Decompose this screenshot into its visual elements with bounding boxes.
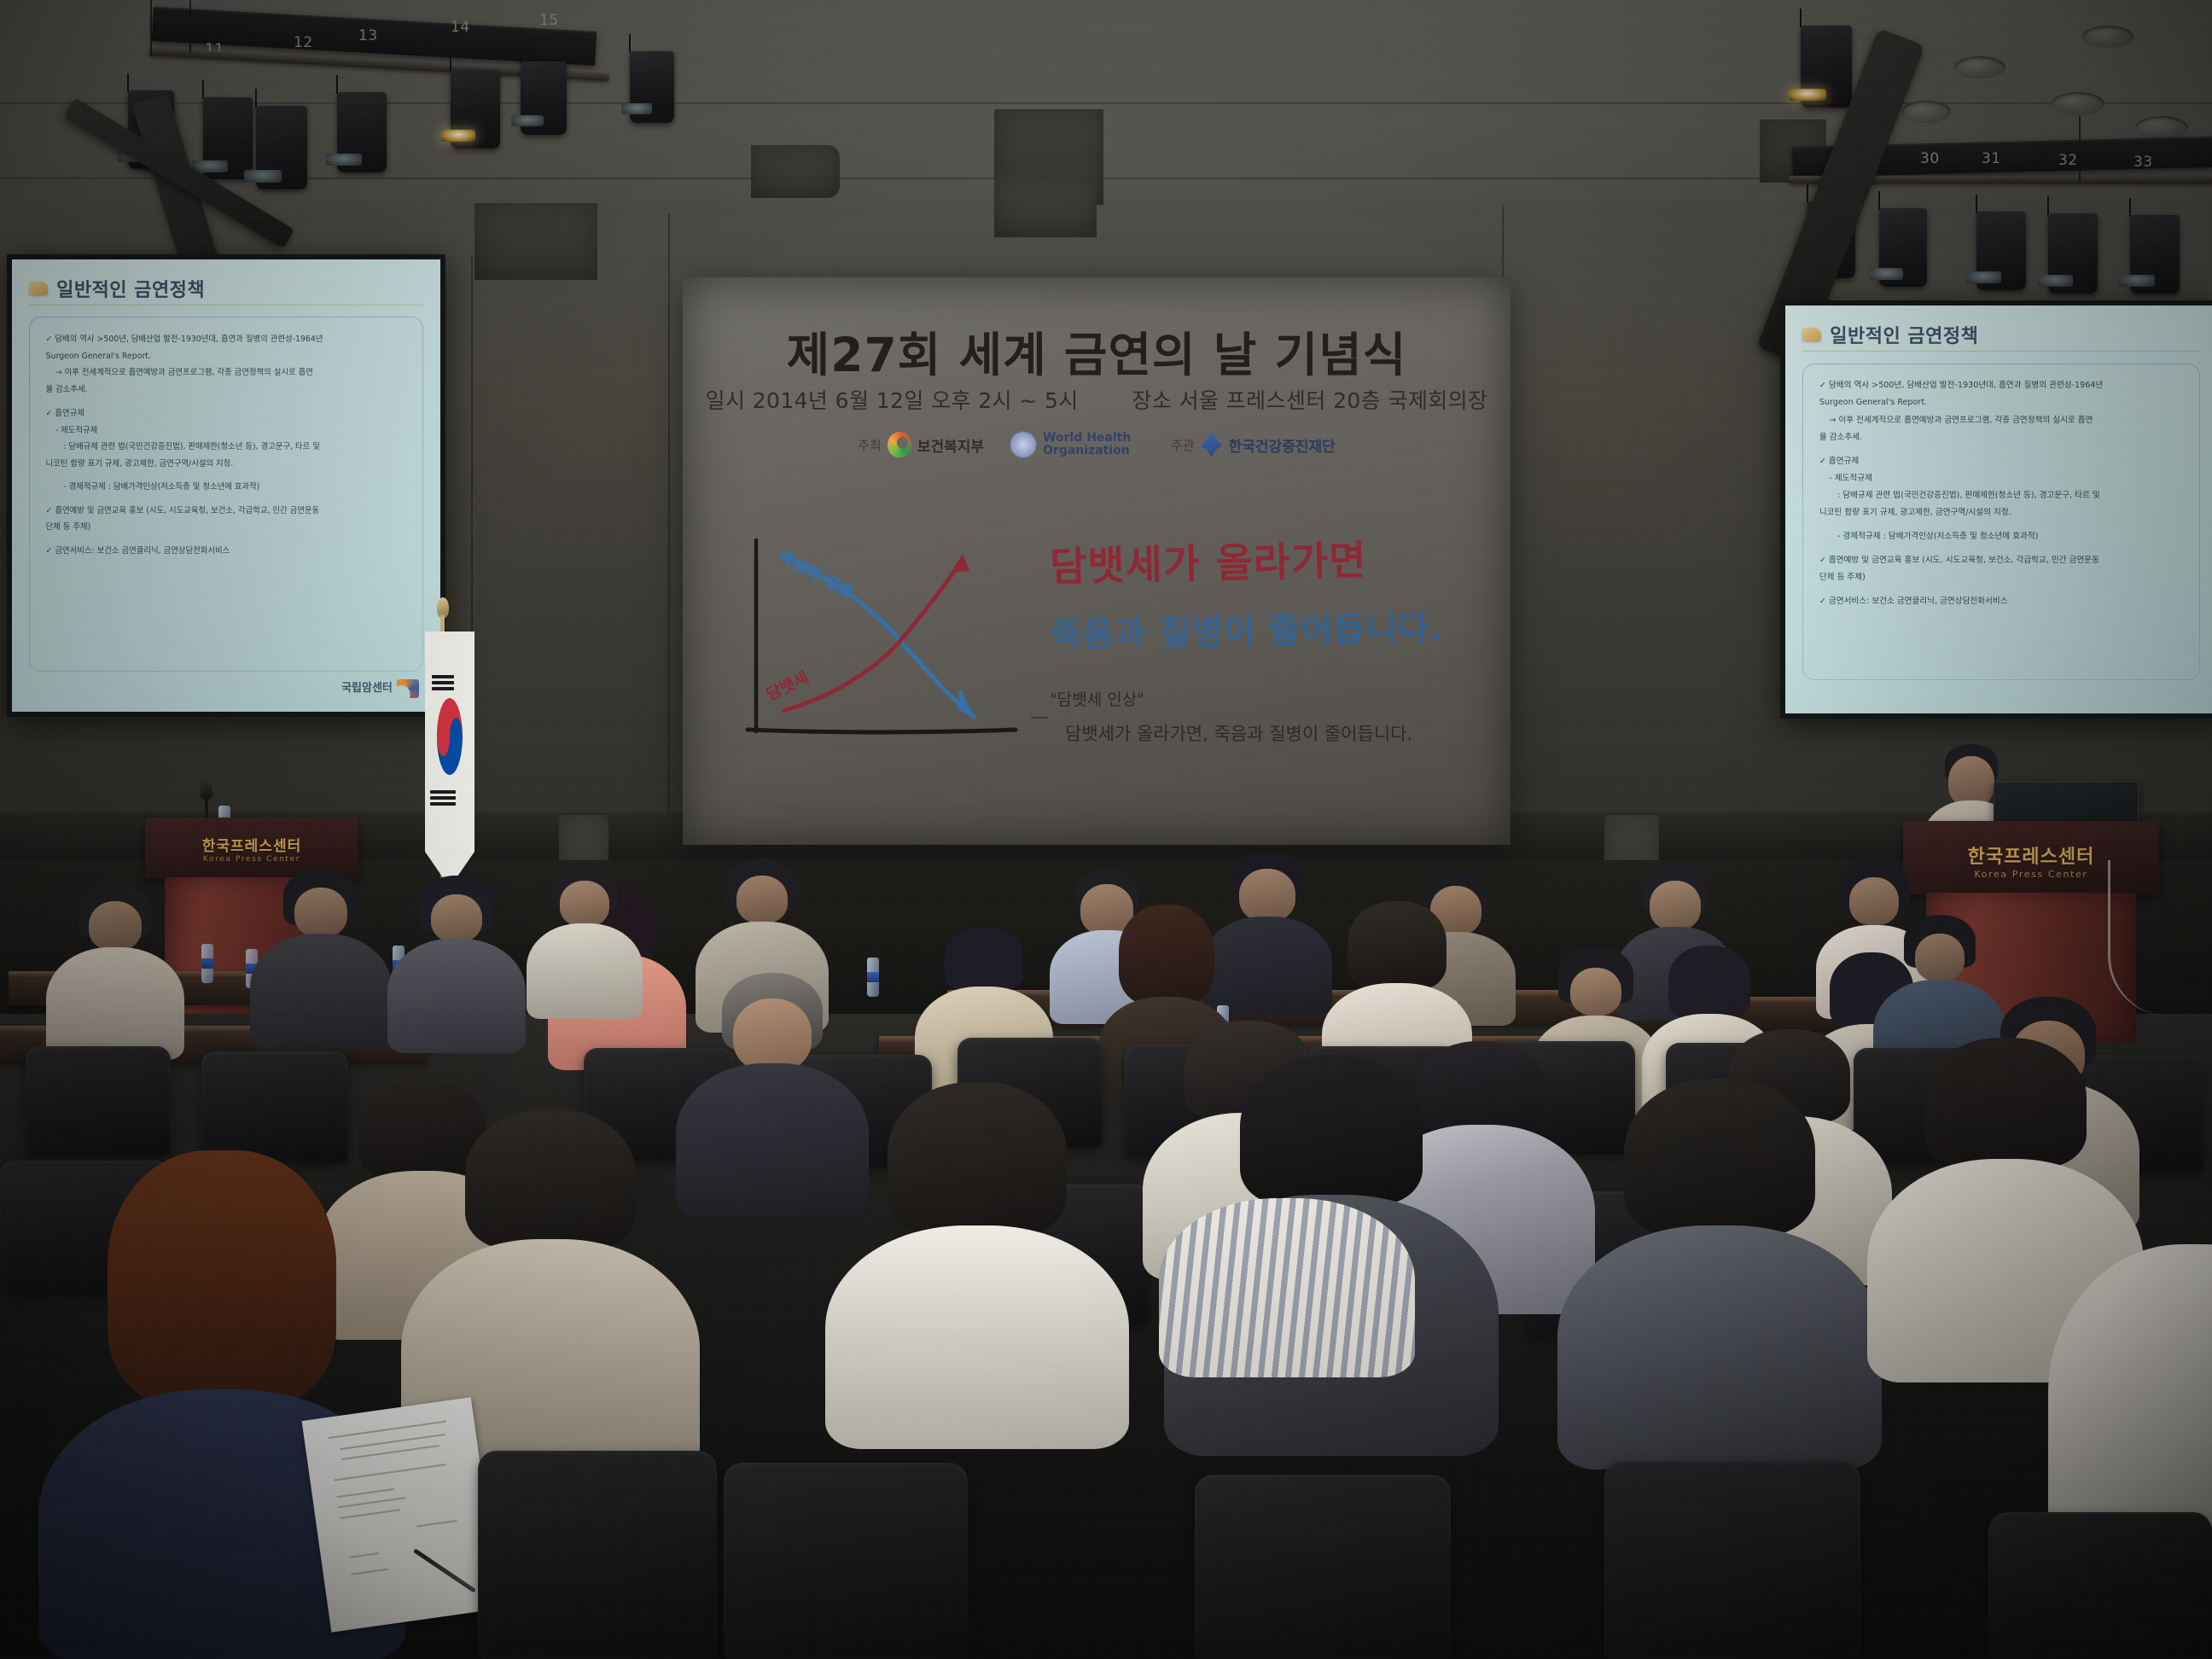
slide-bullet: ✓ 흡연규제 — [1819, 456, 2183, 469]
audience-member — [393, 876, 521, 1051]
slide-bullet: ✓ 금연서비스: 보건소 금연클리닉, 금연상담전화서비스 — [46, 545, 407, 558]
ncc-mark-icon — [397, 679, 419, 698]
water-bottle — [867, 958, 879, 997]
event-subtitle: 일시 2014년 6월 12일 오후 2시 ~ 5시 장소 서울 프레스센터 2… — [683, 384, 1511, 415]
slogan-quote: "담뱃세 인상" — [1050, 687, 1493, 710]
trigram-bottom — [430, 790, 456, 806]
truss-number: 14 — [451, 19, 470, 36]
truss-number: 31 — [1982, 150, 2001, 167]
slide-bullet: ✓ 흡연규제 — [46, 408, 407, 421]
slide-bullet: ✓ 금연서비스: 보건소 금연클리닉, 금연상담전화서비스 — [1819, 596, 2183, 608]
who-mark-icon — [1010, 431, 1037, 458]
event-title: 제27회 세계 금연의 날 기념식 — [683, 317, 1511, 385]
who-name: World Health Organization — [1043, 432, 1145, 457]
slide-bullet: 율 감소추세. — [46, 384, 407, 397]
projection-screen-right: 일반적인 금연정책 ✓ 담배의 역사 >500년, 담배산업 발전-1930년대… — [1780, 300, 2212, 719]
host-logo-group: 주최 보건복지부 — [858, 432, 984, 457]
audience-member-foreground — [1159, 1096, 1415, 1377]
wall-panel — [474, 203, 597, 280]
chart-label-death-disease: 죽음과 질병 — [777, 548, 856, 602]
ceiling-speaker-box — [994, 176, 1097, 237]
auditorium-chair — [1604, 1461, 1860, 1659]
mohw-name: 보건복지부 — [917, 434, 984, 456]
conference-hall-photo: 11 12 13 14 15 30 31 32 33 — [0, 0, 2212, 1659]
slide-left: 일반적인 금연정책 ✓ 담배의 역사 >500년, 담배산업 발전-1930년대… — [12, 259, 440, 712]
caption-dash — [1031, 717, 1048, 719]
recessed-ceiling-light — [1901, 101, 1951, 123]
organizer-label: 주관 — [1171, 436, 1195, 454]
truss-number: 12 — [294, 34, 313, 51]
water-bottle — [201, 944, 213, 983]
slide-bullet: ✓ 담배의 역사 >500년, 담배산업 발전-1930년대, 흡연과 질병의 … — [1819, 380, 2183, 393]
series-cigarette-tax — [783, 564, 959, 711]
khealth-name: 한국건강증진재단 — [1229, 434, 1336, 456]
slide-bullet: - 경제적규제 : 담배가격인상(저소득층 및 청소년에 효과적) — [1819, 531, 2183, 544]
chart-svg: 죽음과 질병 담뱃세 — [734, 533, 1033, 760]
speaker-head — [1948, 756, 1994, 807]
wall-panel — [751, 145, 840, 198]
truss-number: 30 — [1920, 150, 1940, 167]
slide-bullet: 율 감소추세. — [1819, 432, 2183, 445]
audience-member — [51, 884, 179, 1055]
bullet-pin-icon — [1802, 328, 1821, 341]
auditorium-chair — [26, 1046, 171, 1155]
main-message-block: 담뱃세가 올라가면 죽음과 질병이 줄어듭니다. "담뱃세 인상" 담뱃세가 올… — [1050, 529, 1493, 746]
headline-blue: 죽음과 질병이 줄어듭니다. — [1050, 599, 1494, 656]
auditorium-chair — [724, 1463, 968, 1659]
audience-member — [256, 869, 386, 1048]
main-projection-screen: 제27회 세계 금연의 날 기념식 일시 2014년 6월 12일 오후 2시 … — [683, 277, 1511, 845]
slide-bullet: 니코틴 함량 표기 규제, 광고제한, 금연구역/시설의 지정. — [46, 458, 407, 471]
taeguk-symbol — [437, 698, 463, 775]
slide-bullet: → 이후 전세계적으로 흡연예방과 금연프로그램, 각종 금연정책의 실시로 흡… — [1819, 415, 2183, 428]
bullet-pin-icon — [29, 282, 48, 295]
slide-bullet: - 경제적규제 : 담배가격인상(저소득층 및 청소년에 효과적) — [46, 481, 407, 494]
event-date: 일시 2014년 6월 12일 오후 2시 ~ 5시 — [706, 384, 1079, 415]
ncc-logo-text: 국립암센터 — [341, 683, 393, 695]
who-logo-group: World Health Organization — [1010, 431, 1145, 458]
auditorium-chair — [478, 1451, 717, 1659]
mohw-mark-icon — [888, 432, 911, 457]
truss-number: 15 — [539, 12, 559, 29]
slide-bullet: ✓ 흡연예방 및 금연교육 홍보 (시도, 시도교육청, 보건소, 각급학교, … — [1819, 555, 2183, 568]
sponsor-logo-row: 주최 보건복지부 World Health Organization 주관 한국… — [683, 431, 1511, 458]
truss-number: 32 — [2058, 152, 2078, 169]
audience-member-foreground — [836, 1082, 1118, 1441]
event-program-handout — [302, 1397, 501, 1632]
slide-bullet: ✓ 흡연예방 및 금연교육 홍보 (시도, 시도교육청, 보건소, 각급학교, … — [46, 505, 407, 518]
truss-number: 33 — [2133, 154, 2153, 171]
slide-bullet: - 제도적규제 — [1819, 473, 2183, 486]
organizer-logo-group: 주관 한국건강증진재단 — [1171, 432, 1336, 457]
audience-member — [529, 864, 640, 1017]
slide-bullet: : 담배규제 관련 법(국민건강증진법), 판매제한(청소년 등), 경고문구,… — [1819, 490, 2183, 503]
slide-bullet: : 담배규제 관련 법(국민건강증진법), 판매제한(청소년 등), 경고문구,… — [46, 441, 407, 454]
korean-national-flag — [425, 632, 474, 888]
tax-vs-disease-chart: 죽음과 질병 담뱃세 — [734, 533, 1033, 760]
recessed-ceiling-light — [2135, 116, 2188, 139]
slide-bullet: 단체 등 주체) — [46, 521, 407, 534]
event-place: 장소 서울 프레스센터 20층 국제회의장 — [1132, 384, 1487, 415]
slogan-caption: 담뱃세가 올라가면, 죽음과 질병이 줄어듭니다. — [1050, 720, 1493, 746]
slide-bullet: 니코틴 함량 표기 규제, 광고제한, 금연구역/시설의 지정. — [1819, 507, 2183, 520]
recessed-ceiling-light — [1954, 56, 2005, 79]
auditorium-chair — [1195, 1475, 1451, 1659]
slide-bullet: - 제도적규제 — [46, 425, 407, 438]
audience-member-foreground — [1570, 1079, 1869, 1463]
chart-label-cigarette-tax: 담뱃세 — [764, 668, 812, 705]
host-label: 주최 — [858, 436, 882, 454]
slide-title: 일반적인 금연정책 — [1830, 321, 1978, 348]
slide-bullet: ✓ 담배의 역사 >500년, 담배산업 발전-1930년대, 흡연과 질병의 … — [46, 334, 407, 346]
recessed-ceiling-light — [2082, 26, 2133, 48]
slide-bullet: 단체 등 주체) — [1819, 572, 2183, 585]
projection-screen-left: 일반적인 금연정책 ✓ 담배의 역사 >500년, 담배산업 발전-1930년대… — [7, 254, 445, 717]
slide-bullet: Surgeon General's Report. — [46, 351, 407, 364]
podium-venue-name-en: Korea Press Center — [145, 855, 358, 864]
recessed-ceiling-light — [2052, 92, 2104, 115]
slide-right: 일반적인 금연정책 ✓ 담배의 역사 >500년, 담배산업 발전-1930년대… — [1785, 306, 2212, 713]
slide-bullet: → 이후 전세계적으로 흡연예방과 금연프로그램, 각종 금연정책의 실시로 흡… — [46, 367, 407, 380]
truss-number: 13 — [358, 27, 378, 44]
national-cancer-center-logo: 국립암센터 — [341, 679, 419, 698]
auditorium-chair — [1988, 1512, 2212, 1659]
khealth-mark-icon — [1201, 432, 1223, 457]
audience-member — [683, 973, 862, 1212]
trigram-top — [432, 675, 454, 690]
podium-venue-name: 한국프레스센터 Korea Press Center — [145, 834, 358, 864]
headline-red: 담뱃세가 올라가면 — [1049, 525, 1493, 593]
slide-bullet: Surgeon General's Report. — [1819, 397, 2183, 410]
slide-title: 일반적인 금연정책 — [56, 275, 205, 302]
